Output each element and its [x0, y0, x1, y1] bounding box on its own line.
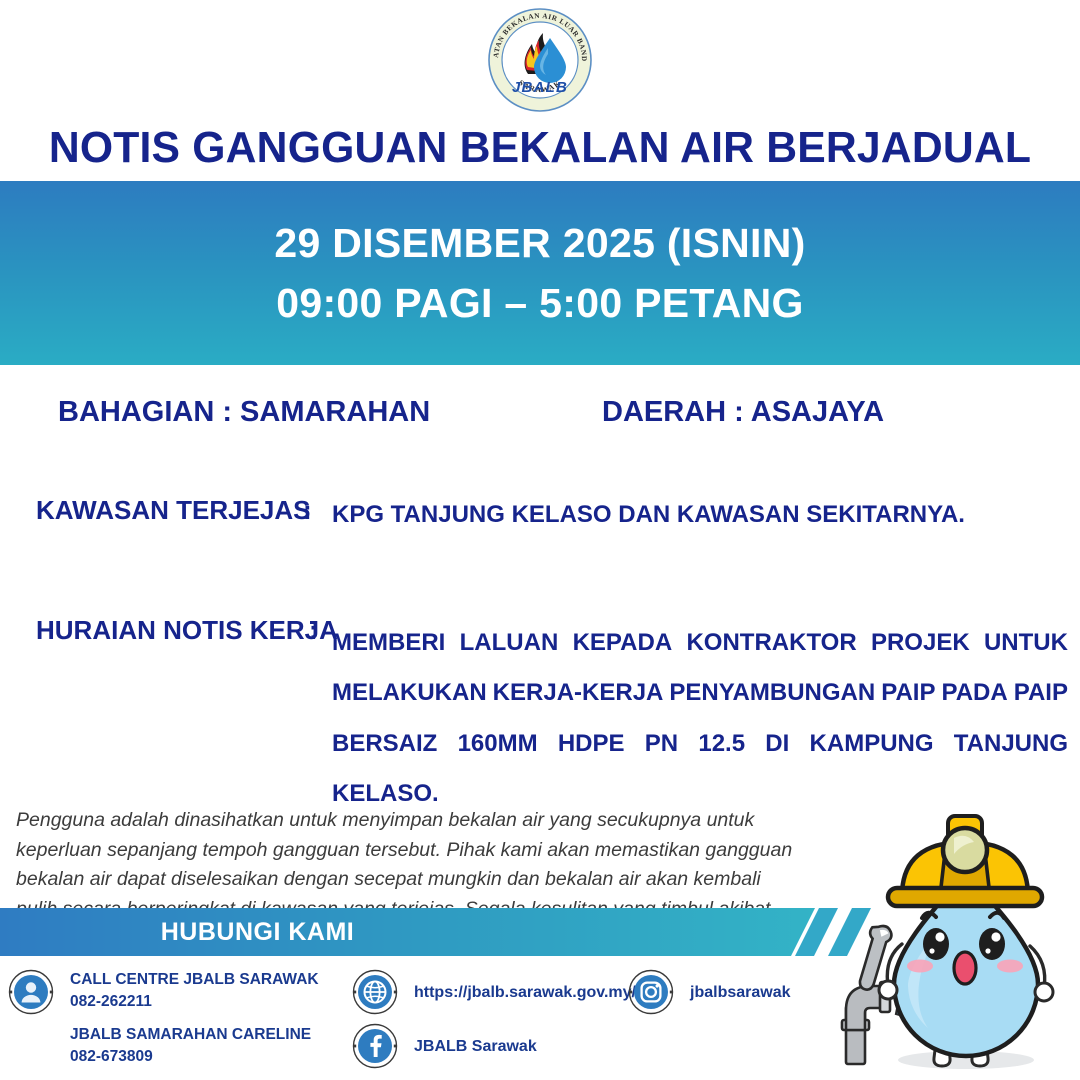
- works-word: UNTUK: [984, 618, 1068, 668]
- works-description-colon: :: [309, 615, 318, 646]
- person-icon: [8, 969, 54, 1015]
- page-title: NOTIS GANGGUAN BEKALAN AIR BERJADUAL: [16, 124, 1064, 172]
- notice-time: 09:00 PAGI – 5:00 PETANG: [276, 276, 804, 330]
- contact-bar-heading: HUBUNGI KAMI: [161, 918, 355, 947]
- facebook-page: JBALB Sarawak: [414, 1023, 537, 1059]
- works-word: PAIP: [1014, 668, 1068, 718]
- works-line-2: MELAKUKANKERJA-KERJAPENYAMBUNGANPAIPPADA…: [332, 668, 1068, 718]
- logo-acronym: JBALB: [512, 79, 568, 96]
- works-word: MELAKUKAN: [332, 668, 487, 718]
- logo-container: JABATAN BEKALAN AIR LUAR BANDAR SARAWAK …: [0, 6, 1080, 114]
- careline-phone: 082-673809: [70, 1046, 319, 1068]
- affected-area-label: KAWASAN TERJEJAS: [36, 495, 311, 526]
- website-url: https://jbalb.sarawak.gov.my/: [414, 969, 636, 1005]
- district-field: DAERAH : ASAJAYA: [602, 396, 884, 429]
- call-centre-name: CALL CENTRE JBALB SARAWAK: [70, 969, 319, 991]
- works-word: PENYAMBUNGAN: [669, 668, 875, 718]
- contact-instagram[interactable]: jbalbsarawak: [628, 969, 791, 1015]
- works-word: KONTRAKTOR: [686, 618, 856, 668]
- works-word: PAIP: [881, 668, 935, 718]
- call-centre-text: CALL CENTRE JBALB SARAWAK 082-262211 JBA…: [70, 969, 319, 1068]
- works-line-1: MEMBERILALUANKEPADAKONTRAKTORPROJEKUNTUK: [332, 618, 1068, 668]
- call-centre-phone: 082-262211: [70, 991, 319, 1013]
- works-word: MEMBERI: [332, 618, 445, 668]
- region-row: BAHAGIAN : SAMARAHAN DAERAH : ASAJAYA: [0, 396, 1080, 438]
- notice-date: 29 DISEMBER 2025 (ISNIN): [274, 216, 805, 270]
- works-word: PROJEK: [871, 618, 970, 668]
- works-word: LALUAN: [460, 618, 559, 668]
- instagram-icon: [628, 969, 674, 1015]
- works-word: KEPADA: [573, 618, 673, 668]
- works-word: KERJA-KERJA: [493, 668, 664, 718]
- water-droplet-mascot: [828, 788, 1078, 1080]
- affected-area-colon: :: [303, 495, 312, 526]
- contact-facebook[interactable]: JBALB Sarawak: [352, 1023, 537, 1069]
- contact-bar-shape: HUBUNGI KAMI: [0, 908, 815, 956]
- jbalb-sarawak-logo: JABATAN BEKALAN AIR LUAR BANDAR SARAWAK …: [488, 8, 592, 112]
- instagram-handle: jbalbsarawak: [690, 969, 791, 1005]
- works-word: PADA: [941, 668, 1007, 718]
- division-field: BAHAGIAN : SAMARAHAN: [58, 396, 430, 429]
- contact-website[interactable]: https://jbalb.sarawak.gov.my/: [352, 969, 636, 1015]
- affected-area-value: KPG TANJUNG KELASO DAN KAWASAN SEKITARNY…: [332, 501, 965, 529]
- contact-call-centre[interactable]: CALL CENTRE JBALB SARAWAK 082-262211 JBA…: [8, 969, 319, 1068]
- globe-icon: [352, 969, 398, 1015]
- facebook-icon: [352, 1023, 398, 1069]
- careline-name: JBALB SAMARAHAN CARELINE: [70, 1024, 319, 1046]
- date-time-banner: 29 DISEMBER 2025 (ISNIN) 09:00 PAGI – 5:…: [0, 181, 1080, 365]
- works-description-label: HURAIAN NOTIS KERJA: [36, 615, 338, 646]
